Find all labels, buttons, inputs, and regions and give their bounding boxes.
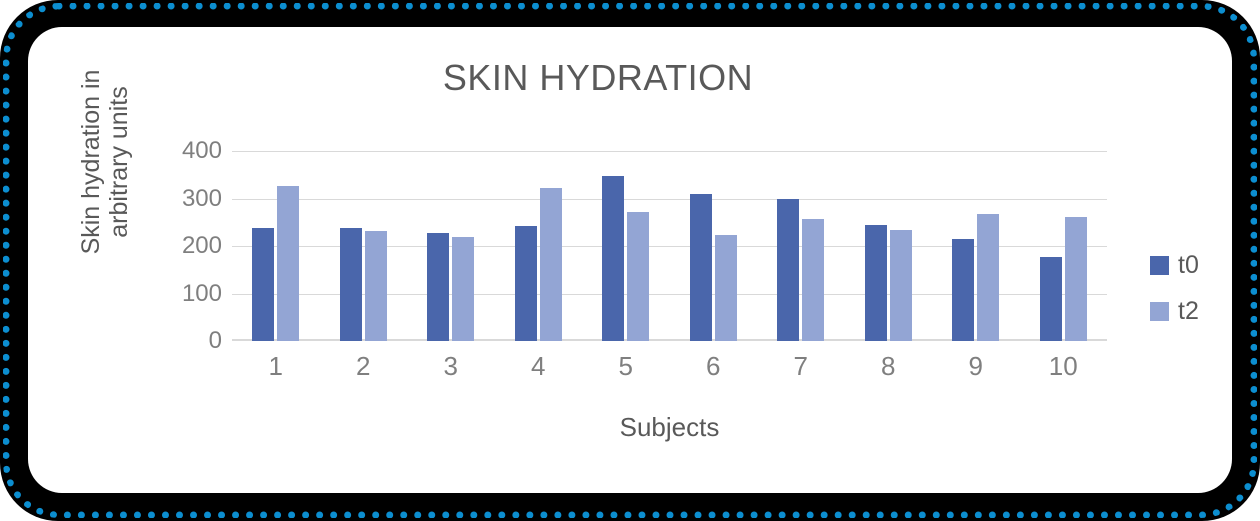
screenshot-root: SKIN HYDRATION Skin hydration in arbitra…	[0, 0, 1260, 521]
bar-t2-subject-8[interactable]	[890, 230, 912, 341]
legend-swatch-icon-t2	[1150, 302, 1169, 321]
bar-t0-subject-4[interactable]	[515, 226, 537, 341]
plot-area: 12345678910	[232, 151, 1107, 341]
bar-group-1	[232, 151, 320, 341]
x-tick-6: 6	[706, 351, 720, 382]
bar-t2-subject-1[interactable]	[277, 186, 299, 341]
bar-group-10	[1020, 151, 1108, 341]
chart-card: SKIN HYDRATION Skin hydration in arbitra…	[28, 27, 1232, 493]
bar-group-3	[407, 151, 495, 341]
bar-group-7	[757, 151, 845, 341]
bar-t0-subject-1[interactable]	[252, 228, 274, 341]
legend-label-t2: t2	[1178, 297, 1199, 326]
bar-t2-subject-4[interactable]	[540, 188, 562, 341]
bar-t2-subject-3[interactable]	[452, 237, 474, 341]
bar-groups	[232, 151, 1107, 341]
y-tick-400: 400	[158, 137, 222, 165]
bar-t0-subject-2[interactable]	[340, 228, 362, 341]
bar-t0-subject-8[interactable]	[865, 225, 887, 341]
chart-title: SKIN HYDRATION	[28, 57, 1168, 99]
legend-swatch-icon-t0	[1150, 256, 1169, 275]
bar-t0-subject-3[interactable]	[427, 233, 449, 341]
bar-group-4	[495, 151, 583, 341]
bar-t0-subject-7[interactable]	[777, 199, 799, 342]
chart-legend: t0 t2	[1150, 242, 1230, 334]
bar-group-9	[932, 151, 1020, 341]
x-tick-2: 2	[356, 351, 370, 382]
bar-t0-subject-10[interactable]	[1040, 257, 1062, 341]
x-tick-1: 1	[269, 351, 283, 382]
bar-t0-subject-6[interactable]	[690, 194, 712, 341]
bar-t2-subject-6[interactable]	[715, 235, 737, 341]
x-tick-4: 4	[531, 351, 545, 382]
y-axis-title-line1: Skin hydration in	[77, 70, 105, 255]
bar-group-6	[670, 151, 758, 341]
bar-t2-subject-9[interactable]	[977, 214, 999, 341]
x-axis-title: Subjects	[232, 412, 1107, 443]
x-tick-8: 8	[881, 351, 895, 382]
bar-group-2	[320, 151, 408, 341]
bar-t2-subject-5[interactable]	[627, 212, 649, 341]
x-tick-10: 10	[1049, 351, 1078, 382]
bar-t2-subject-10[interactable]	[1065, 217, 1087, 341]
bar-group-5	[582, 151, 670, 341]
y-tick-0: 0	[158, 327, 222, 355]
legend-item-t2[interactable]: t2	[1150, 288, 1230, 334]
y-tick-300: 300	[158, 185, 222, 213]
x-tick-5: 5	[619, 351, 633, 382]
bar-t2-subject-7[interactable]	[802, 219, 824, 341]
legend-label-t0: t0	[1178, 251, 1199, 280]
legend-item-t0[interactable]: t0	[1150, 242, 1230, 288]
y-axis-title-line2: arbitrary units	[105, 86, 133, 237]
x-tick-3: 3	[444, 351, 458, 382]
bar-t2-subject-2[interactable]	[365, 231, 387, 341]
x-tick-9: 9	[969, 351, 983, 382]
bar-t0-subject-9[interactable]	[952, 239, 974, 341]
bar-group-8	[845, 151, 933, 341]
y-axis-ticks: 400 300 200 100 0	[158, 151, 222, 341]
y-tick-200: 200	[158, 232, 222, 260]
bar-t0-subject-5[interactable]	[602, 176, 624, 341]
y-tick-100: 100	[158, 280, 222, 308]
y-axis-title: Skin hydration in arbitrary units	[75, 27, 135, 297]
x-tick-7: 7	[794, 351, 808, 382]
